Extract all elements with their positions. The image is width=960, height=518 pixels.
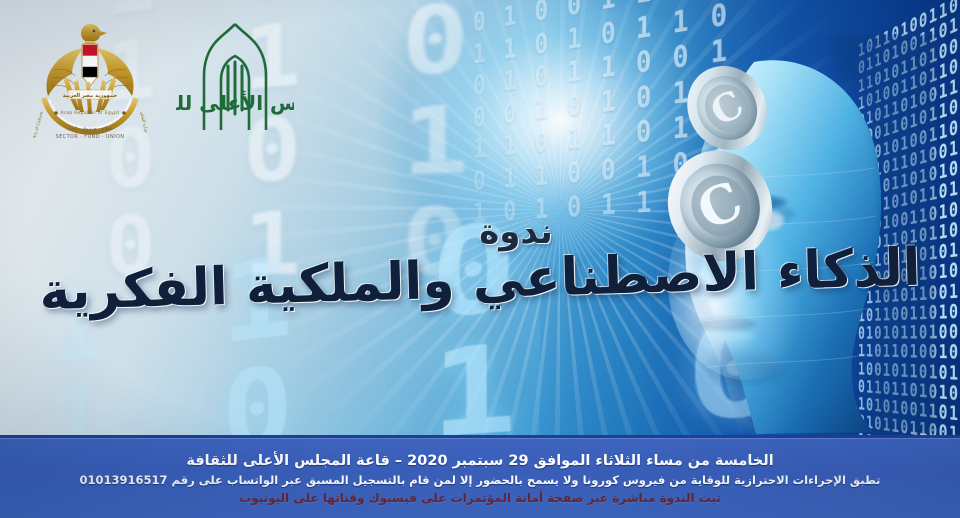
coat-arc-text-en: Arab Republic of Egypt (61, 110, 120, 116)
event-info-bar: الخامسة من مساء الثلاثاء الموافق 29 سبتم… (0, 435, 960, 518)
coat-caption-en: SECTOR · FUND · UNION (28, 134, 152, 142)
event-broadcast-line: تبث الندوة مباشرة عبر صفحة أمانة المؤتمر… (239, 491, 721, 506)
coat-shield-text: جمهورية مصر العربية (63, 93, 117, 99)
egypt-coat-of-arms-logo: جمهورية مصر العربية Arab Republic of Egy… (28, 14, 152, 138)
coat-caption-ar: قطاع · صندوق · اتحاد (28, 126, 152, 134)
scc-logo-text: المجلس الأعلى للثقافة (176, 90, 294, 115)
supreme-council-of-culture-logo: المجلس الأعلى للثقافة (176, 18, 294, 136)
event-covid-registration-line: تطبق الإجراءات الاحترازية للوقاية من فير… (80, 473, 881, 487)
event-poster: 1 0 1 0 1 1 1 0 0 0 1 0 1 0 1 1 0 0 1 0 … (0, 0, 960, 518)
event-datetime-venue-line: الخامسة من مساء الثلاثاء الموافق 29 سبتم… (186, 452, 773, 470)
